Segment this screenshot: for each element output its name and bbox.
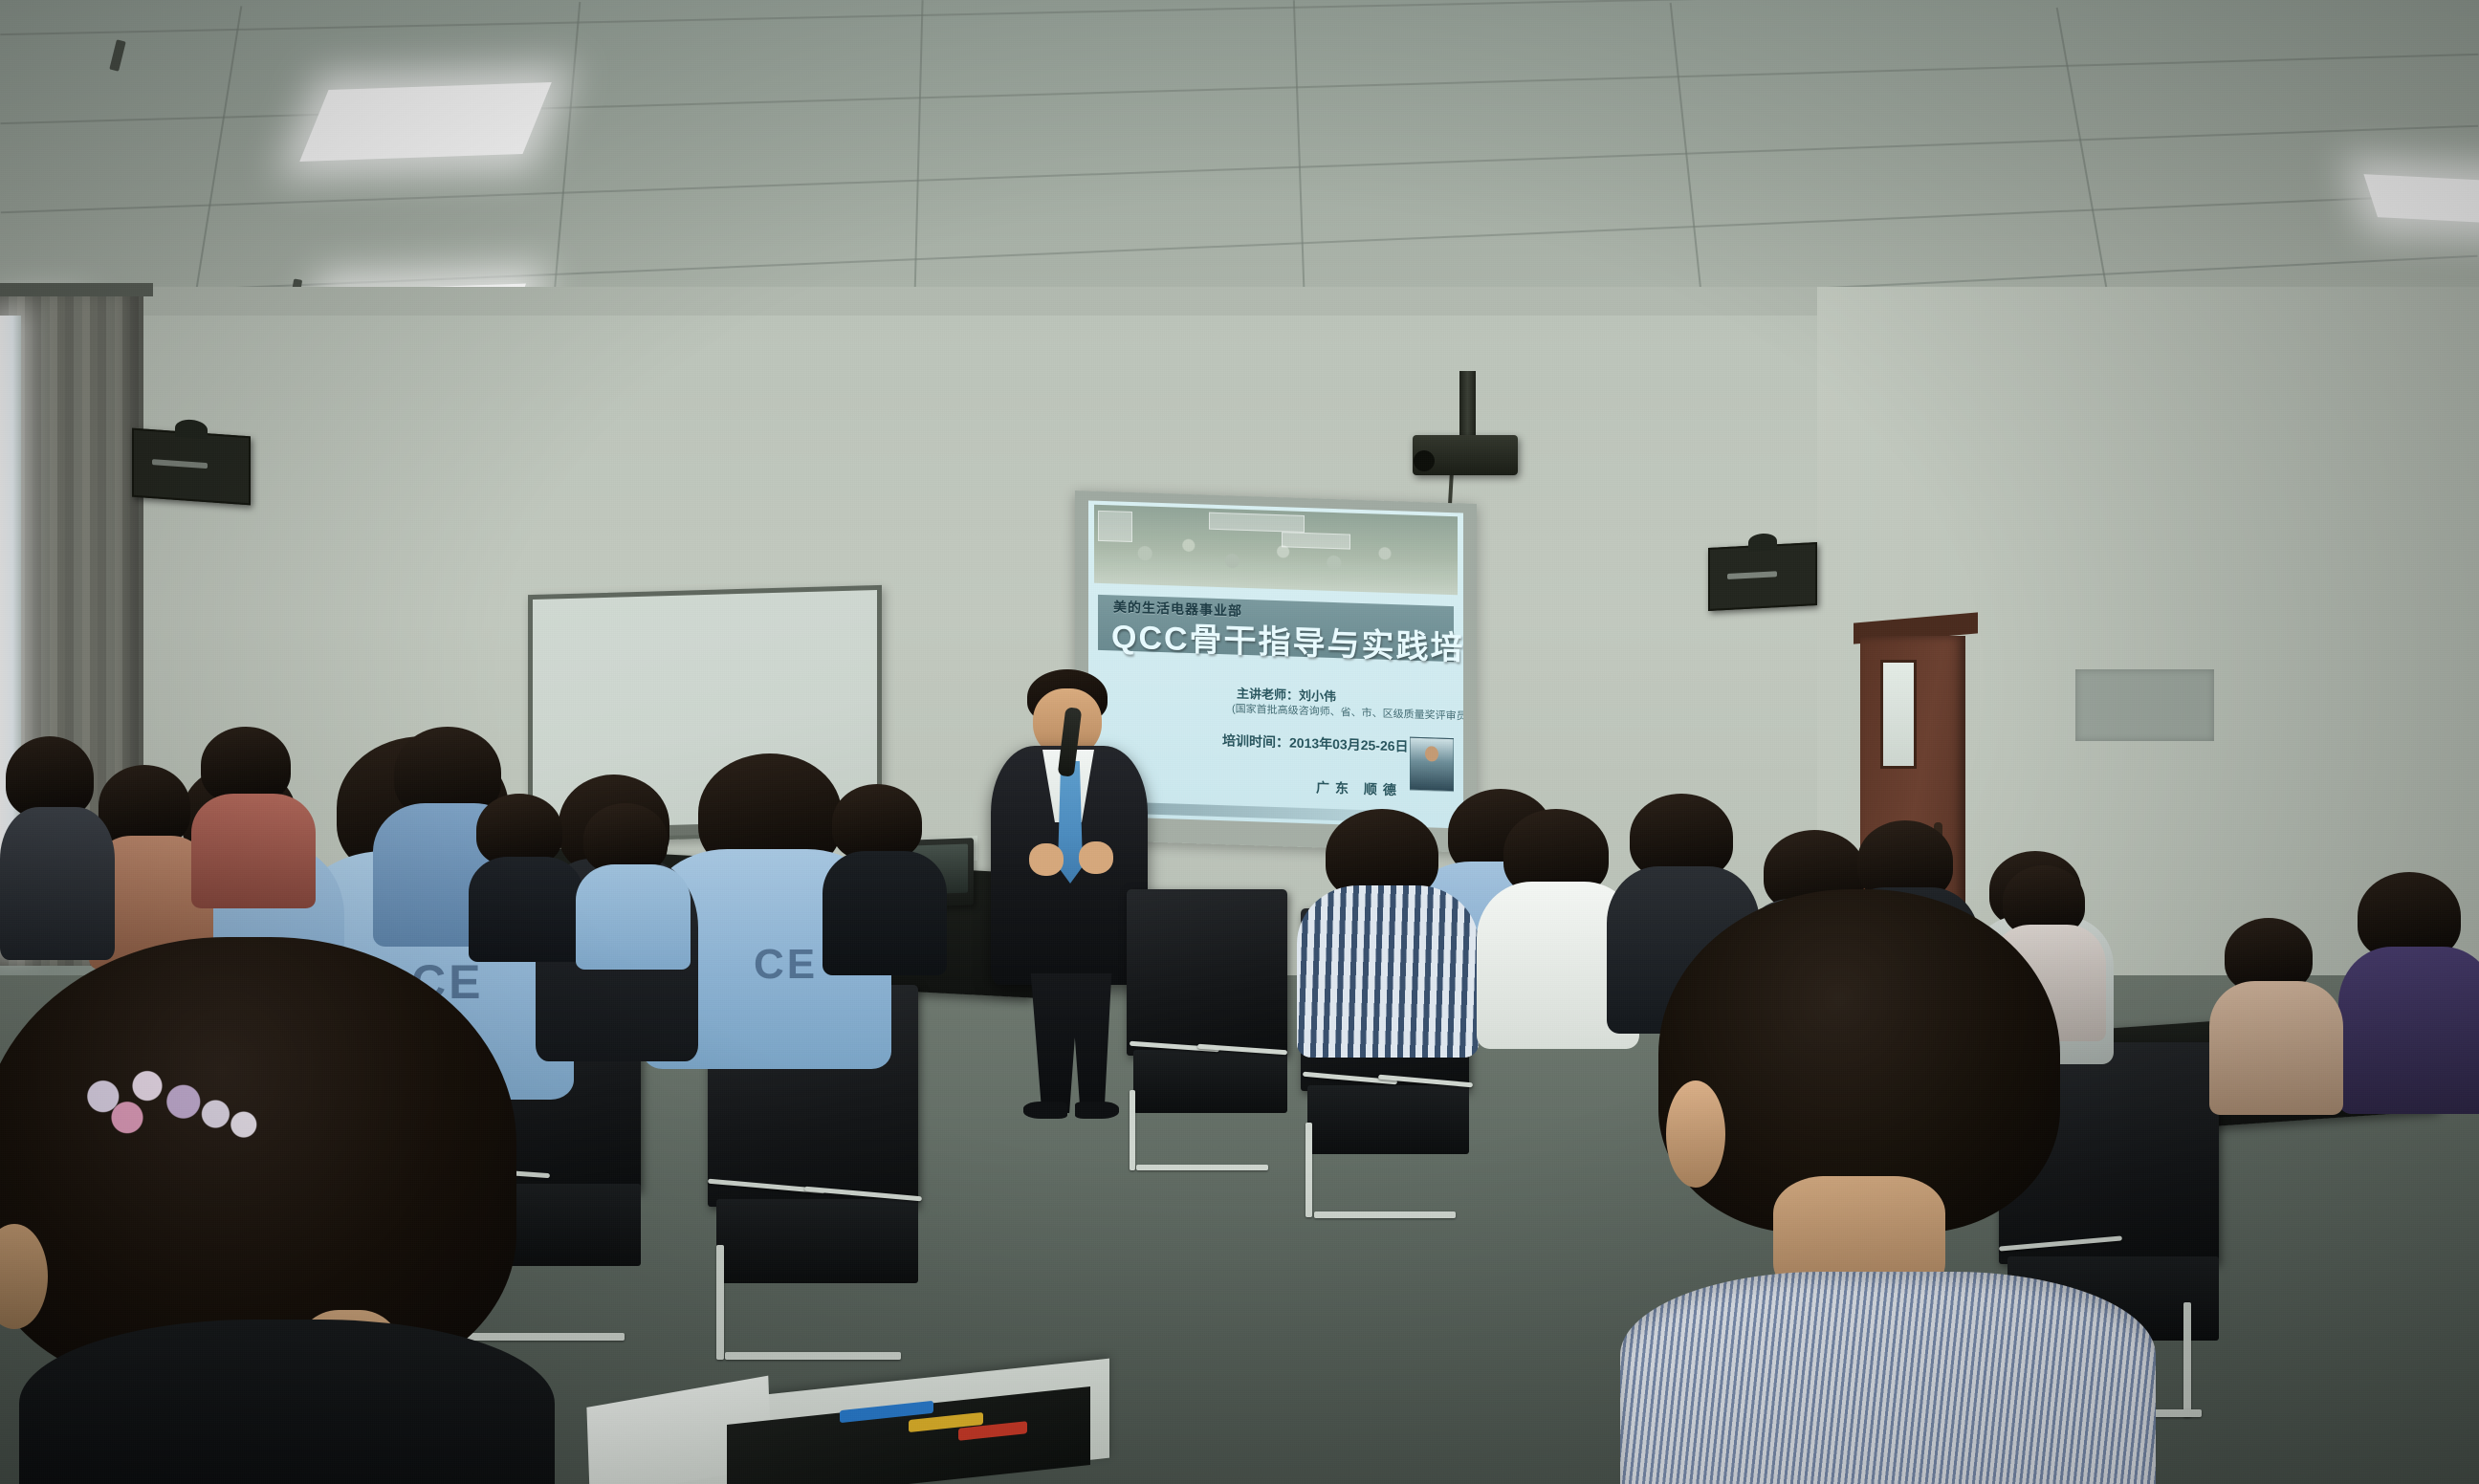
- chair-leg: [716, 1245, 724, 1360]
- door-window: [1880, 660, 1917, 769]
- attendee-hair: [583, 803, 668, 874]
- pinstripe-shirt: [1620, 1272, 2156, 1484]
- chair-leg: [1136, 1165, 1268, 1170]
- slide-date-line: 培训时间：2013年03月25-26日: [1222, 731, 1409, 755]
- wall-panel: [2075, 669, 2214, 741]
- chair-seat: [716, 1199, 918, 1283]
- foreground-woman-top: [19, 1320, 555, 1484]
- chair-leg: [725, 1352, 902, 1360]
- attendee: [576, 803, 691, 966]
- attendee-uniform-shirt: [576, 864, 691, 970]
- slide-portrait-photo: [1410, 737, 1454, 793]
- chair-leg: [1305, 1123, 1312, 1217]
- uniform-badge-ce: CE: [754, 941, 818, 989]
- chair-seat: [1133, 1050, 1287, 1113]
- slide-credentials-line: (国家首批高级咨询师、省、市、区级质量奖评审员…): [1232, 700, 1463, 724]
- attendee-torso: [2209, 981, 2343, 1115]
- speaker-grille: [152, 459, 208, 469]
- foreground-man-ear: [1666, 1080, 1725, 1188]
- presenter-hand-left: [1029, 843, 1064, 876]
- projector-mount-pole: [1459, 371, 1476, 440]
- ceiling-hook: [109, 39, 125, 71]
- attendee: [2209, 918, 2343, 1109]
- slide-header-photo: [1094, 505, 1458, 596]
- ceiling-light-panel: [299, 82, 552, 162]
- slide-location-line: 广东 顺德: [1316, 777, 1402, 799]
- foreground-man: [1620, 889, 2156, 1484]
- attendee: [0, 736, 115, 956]
- wall-speaker-right: [1708, 542, 1817, 611]
- presenter-shoe-left: [1023, 1102, 1067, 1119]
- wall-speaker-left: [132, 428, 251, 506]
- attendee: [2338, 872, 2479, 1111]
- attendee-striped-shirt: [1297, 885, 1479, 1058]
- foreground-woman: [0, 937, 593, 1484]
- attendee: [823, 784, 947, 966]
- attendee: [191, 727, 316, 899]
- ceiling-light-panel: [2363, 174, 2479, 225]
- chair-leg: [2183, 1302, 2191, 1417]
- empty-chair[interactable]: [1127, 889, 1287, 1176]
- attendee-hair: [832, 784, 922, 861]
- chair-seat: [1307, 1085, 1469, 1155]
- attendee-torso: [2338, 947, 2479, 1114]
- attendee-torso: [823, 851, 947, 975]
- speaker-grille: [1727, 571, 1778, 578]
- floral-hair-clip: [67, 1059, 268, 1147]
- presenter-hand-right: [1079, 841, 1113, 874]
- attendee: [1297, 809, 1479, 1058]
- attendee: [469, 794, 583, 947]
- presenter-shoe-right: [1075, 1102, 1119, 1119]
- speaker-mount: [1748, 534, 1778, 552]
- chair-back: [1127, 889, 1287, 1056]
- attendee-hair: [201, 727, 291, 803]
- slide-main-title: QCC骨干指导与实践培训会: [1111, 610, 1463, 671]
- attendee-torso: [191, 794, 316, 908]
- presenter-trousers: [1025, 973, 1117, 1113]
- curtain-rail: [0, 283, 153, 296]
- projector-lens-icon: [1414, 450, 1435, 471]
- attendee-hair: [476, 794, 562, 866]
- portrait-head: [1425, 746, 1438, 762]
- training-room-photo: 美的生活电器事业部 QCC骨干指导与实践培训会 主讲老师：刘小伟 (国家首批高级…: [0, 0, 2479, 1484]
- chair-leg: [1130, 1090, 1135, 1170]
- chair-leg: [1314, 1211, 1456, 1218]
